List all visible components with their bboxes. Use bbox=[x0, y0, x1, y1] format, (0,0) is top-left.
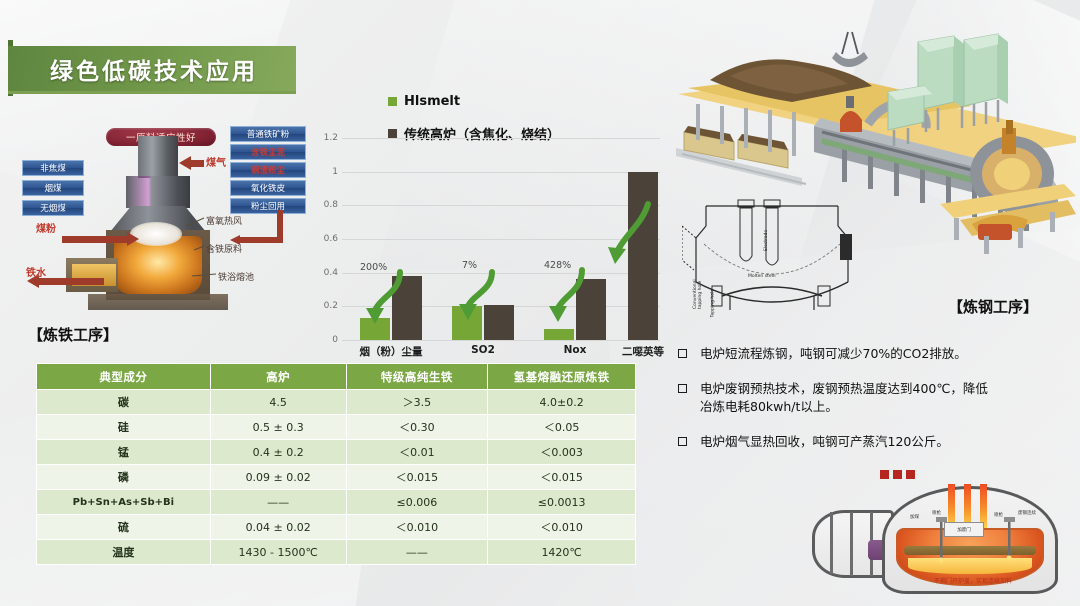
red-square-icon bbox=[893, 470, 902, 479]
page-title: 绿色低碳技术应用 bbox=[50, 52, 258, 86]
arrow-coal-powder bbox=[62, 236, 128, 243]
gridline bbox=[342, 273, 660, 274]
bar-green-dust bbox=[360, 318, 390, 340]
cell-value: ＜0.015 bbox=[488, 465, 636, 490]
x-tick-nox: Nox bbox=[564, 344, 587, 356]
table-row: 硅 0.5 ± 0.3 ＜0.30 ＜0.05 bbox=[37, 415, 636, 440]
tag-non-coking-coal: 非焦煤 bbox=[22, 160, 84, 176]
bullet-item: 电炉烟气显热回收，吨钢可产蒸汽120公斤。 bbox=[678, 433, 1068, 451]
y-tick-0-4: 0.4 bbox=[308, 268, 338, 278]
legend-item-hlsmelt: Hlsmelt bbox=[388, 94, 460, 109]
cell-value: —— bbox=[346, 540, 488, 565]
annotation-so2: 7% bbox=[462, 260, 477, 271]
slide-root: 绿色低碳技术应用 一原料适应性好 非焦煤 烟煤 无烟煤 普通铁矿粉 含铁尘泥 钢… bbox=[0, 0, 1080, 606]
cell-value: ＜0.003 bbox=[488, 440, 636, 465]
liquid-steel bbox=[908, 558, 1032, 574]
y-tick-0-8: 0.8 bbox=[308, 200, 338, 210]
bar-dark-nox bbox=[576, 279, 606, 340]
label-coal-powder: 煤粉 bbox=[36, 220, 56, 235]
cell-value: ＞3.5 bbox=[346, 390, 488, 415]
table-row: 硫 0.04 ± 0.02 ＜0.010 ＜0.010 bbox=[37, 515, 636, 540]
cell-component: 温度 bbox=[37, 540, 211, 565]
title-banner: 绿色低碳技术应用 bbox=[8, 46, 296, 91]
table-row: 锰 0.4 ± 0.2 ＜0.01 ＜0.003 bbox=[37, 440, 636, 465]
label-tapping-hole: Tapping hole bbox=[711, 288, 716, 318]
cell-value: ＜0.015 bbox=[346, 465, 488, 490]
cell-value: ＜0.010 bbox=[488, 515, 636, 540]
cell-value: 4.0±0.2 bbox=[488, 390, 636, 415]
charging-door: 加废门 bbox=[944, 522, 984, 537]
eaf-label-lance-1: 喷枪 bbox=[932, 510, 941, 516]
furnace-base bbox=[88, 294, 228, 310]
cell-component: 硅 bbox=[37, 415, 211, 440]
col-high-purity: 特级高纯生铁 bbox=[346, 364, 488, 390]
col-hydrogen-smelt: 氢基熔融还原炼铁 bbox=[488, 364, 636, 390]
y-tick-1-2: 1.2 bbox=[308, 133, 338, 143]
bar-green-so2 bbox=[452, 306, 482, 340]
red-square-icon bbox=[880, 470, 889, 479]
tag-bituminous-coal: 烟煤 bbox=[22, 180, 84, 196]
tag-iron-bearing-sludge: 含铁尘泥 bbox=[230, 144, 306, 160]
label-iron-material: 含铁原料 bbox=[206, 242, 242, 255]
legend-swatch-green bbox=[388, 97, 397, 106]
decorative-squares bbox=[880, 470, 915, 479]
caption-ironmaking: 【炼铁工序】 bbox=[28, 324, 118, 345]
cell-value: —— bbox=[210, 490, 346, 515]
tag-iron-ore-powder: 普通铁矿粉 bbox=[230, 126, 306, 142]
label-conventional-tapping-hole: Conventional tapping hole bbox=[693, 265, 703, 309]
cell-component: Pb+Sn+As+Sb+Bi bbox=[37, 490, 211, 515]
cell-value: ＜0.30 bbox=[346, 415, 488, 440]
table-row: 温度 1430 - 1500℃ —— 1420℃ bbox=[37, 540, 636, 565]
caption-steelmaking: 【炼钢工序】 bbox=[948, 296, 1038, 317]
cell-value: 0.4 ± 0.2 bbox=[210, 440, 346, 465]
cell-value: 1420℃ bbox=[488, 540, 636, 565]
x-tick-dust: 烟（粉）尘量 bbox=[360, 344, 423, 359]
cell-value: 0.09 ± 0.02 bbox=[210, 465, 346, 490]
chart-plot-area: 0 0.2 0.4 0.6 0.8 1 1.2 200% 7% 428% bbox=[342, 138, 660, 340]
label-electrode: Electrode bbox=[764, 230, 769, 251]
cell-component: 锰 bbox=[37, 440, 211, 465]
tag-dust-reuse: 粉尘回用 bbox=[230, 198, 306, 214]
bullet-list: 电炉短流程炼钢，吨钢可减少70%的CO2排放。 电炉废钢预热技术，废钢预热温度达… bbox=[678, 345, 1068, 469]
bar-green-nox bbox=[544, 329, 574, 340]
square-bullet-icon bbox=[678, 349, 687, 358]
tunnel-rib bbox=[850, 512, 853, 576]
legend-swatch-dark bbox=[388, 129, 397, 138]
cell-value: 0.5 ± 0.3 bbox=[210, 415, 346, 440]
x-tick-so2: SO2 bbox=[471, 344, 495, 356]
ladle-section-diagram: Electrode Molten steel Conventional tapp… bbox=[682, 186, 862, 316]
eaf-label-lance-2: 喷枪 bbox=[994, 512, 1003, 518]
emissions-bar-chart: Hlsmelt 传统高炉（含焦化、烧结） 0 0.2 0.4 0.6 0.8 1… bbox=[300, 82, 670, 322]
tag-anthracite-coal: 无烟煤 bbox=[22, 200, 84, 216]
annotation-dust: 200% bbox=[360, 262, 387, 273]
label-molten-bath: 铁浴熔池 bbox=[218, 270, 254, 283]
square-bullet-icon bbox=[678, 384, 687, 393]
annotation-nox: 428% bbox=[544, 260, 571, 271]
eaf-label-coal: 加煤 bbox=[910, 514, 919, 520]
ironmaking-illustration: 一原料适应性好 非焦煤 烟煤 无烟煤 普通铁矿粉 含铁尘泥 钢渣粉尘 氧化铁皮 … bbox=[18, 118, 318, 318]
slag-layer bbox=[904, 546, 1036, 555]
gridline bbox=[342, 239, 660, 240]
furnace-midsection bbox=[126, 176, 190, 208]
table-row: Pb+Sn+As+Sb+Bi —— ≤0.006 ≤0.0013 bbox=[37, 490, 636, 515]
ladle-svg bbox=[682, 186, 862, 316]
y-tick-0-2: 0.2 bbox=[308, 301, 338, 311]
red-square-icon bbox=[906, 470, 915, 479]
table-row: 碳 4.5 ＞3.5 4.0±0.2 bbox=[37, 390, 636, 415]
cell-value: 4.5 bbox=[210, 390, 346, 415]
bullet-text: 电炉废钢预热技术，废钢预热温度达到400℃，降低冶炼电耗80kwh/t以上。 bbox=[700, 380, 1000, 416]
tag-mill-scale: 氧化铁皮 bbox=[230, 180, 306, 196]
cell-value: 1430 - 1500℃ bbox=[210, 540, 346, 565]
label-molten-steel: Molten steel bbox=[748, 274, 776, 279]
bullet-item: 电炉废钢预热技术，废钢预热温度达到400℃，降低冶炼电耗80kwh/t以上。 bbox=[678, 380, 1068, 416]
bar-dark-so2 bbox=[484, 305, 514, 340]
label-gas: 煤气 bbox=[206, 154, 226, 169]
arrow-gas bbox=[190, 160, 204, 167]
label-hot-metal: 铁水 bbox=[26, 264, 46, 279]
arrow-hot-metal bbox=[38, 278, 104, 285]
table-header-row: 典型成分 高炉 特级高纯生铁 氢基熔融还原炼铁 bbox=[37, 364, 636, 390]
gridline bbox=[342, 340, 660, 341]
x-tick-dioxin: 二噁英等 bbox=[622, 344, 664, 359]
gridline bbox=[342, 205, 660, 206]
cell-component: 磷 bbox=[37, 465, 211, 490]
cell-value: ＜0.010 bbox=[346, 515, 488, 540]
y-tick-1: 1 bbox=[308, 167, 338, 177]
legend-label-hlsmelt: Hlsmelt bbox=[404, 94, 460, 109]
composition-table: 典型成分 高炉 特级高纯生铁 氢基熔融还原炼铁 碳 4.5 ＞3.5 4.0±0… bbox=[36, 363, 636, 565]
eaf-caption: 不揭门开炉盖，实现连续加料 bbox=[888, 576, 1058, 585]
col-component: 典型成分 bbox=[37, 364, 211, 390]
label-hot-blast: 富氧热风 bbox=[206, 214, 242, 227]
eaf-label-scrap: 废钢连续 bbox=[1018, 510, 1036, 516]
steelmaking-plant-illustration: Electrode Molten steel Conventional tapp… bbox=[672, 28, 1076, 318]
eaf-cross-section: 加废门 加煤 喷枪 喷枪 废钢连续 不揭门开炉盖，实现连续加料 bbox=[812, 484, 1074, 606]
square-bullet-icon bbox=[678, 437, 687, 446]
cell-value: 0.04 ± 0.02 bbox=[210, 515, 346, 540]
cell-value: ≤0.0013 bbox=[488, 490, 636, 515]
cell-component: 碳 bbox=[37, 390, 211, 415]
gridline bbox=[342, 138, 660, 139]
bullet-item: 电炉短流程炼钢，吨钢可减少70%的CO2排放。 bbox=[678, 345, 1068, 363]
cell-component: 硫 bbox=[37, 515, 211, 540]
gridline bbox=[342, 172, 660, 173]
furnace-stack bbox=[138, 136, 178, 178]
cell-value: ≤0.006 bbox=[346, 490, 488, 515]
col-blast-furnace: 高炉 bbox=[210, 364, 346, 390]
bullet-text: 电炉烟气显热回收，吨钢可产蒸汽120公斤。 bbox=[700, 433, 949, 451]
cell-value: ＜0.01 bbox=[346, 440, 488, 465]
bar-dark-dioxin bbox=[628, 172, 658, 340]
cell-value: ＜0.05 bbox=[488, 415, 636, 440]
y-tick-0: 0 bbox=[308, 335, 338, 345]
tunnel-rib bbox=[830, 512, 833, 574]
y-tick-0-6: 0.6 bbox=[308, 234, 338, 244]
tag-steel-slag-dust: 钢渣粉尘 bbox=[230, 162, 306, 178]
bullet-text: 电炉短流程炼钢，吨钢可减少70%的CO2排放。 bbox=[700, 345, 967, 363]
bar-dark-dust bbox=[392, 276, 422, 340]
table-row: 磷 0.09 ± 0.02 ＜0.015 ＜0.015 bbox=[37, 465, 636, 490]
